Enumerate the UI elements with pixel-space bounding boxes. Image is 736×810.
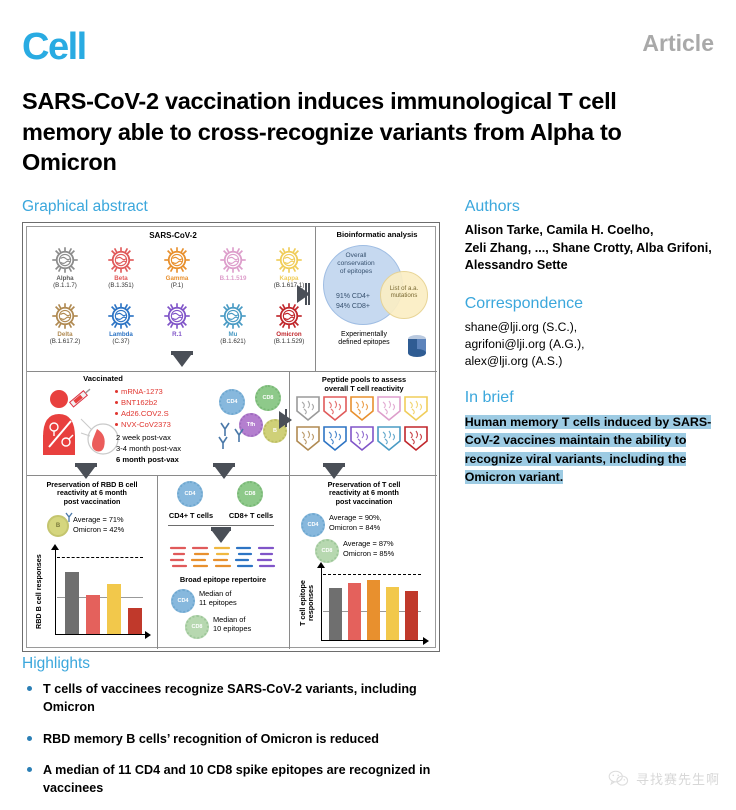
article-type-label: Article [642,30,714,57]
cd4-cell-icon: CD4 [177,481,203,507]
divider [315,227,316,371]
cd8-cell-icon: CD8 [237,481,263,507]
page-title: SARS-CoV-2 vaccination induces immunolog… [22,86,712,178]
variant-item: Omicron (B.1.1.529) [269,301,309,346]
timepoint-item: 6 month post-vax [116,455,226,464]
variant-lineage: (C.37) [101,339,141,346]
arrow-down-icon [215,467,233,479]
highlight-item: RBD memory B cells’ recognition of Omicr… [22,730,452,748]
in-brief-line: recognize viral variants, including the [465,452,687,466]
rbd-bar-chart [55,549,151,635]
virus-icon [218,301,248,331]
bullet [115,412,118,415]
divider [168,525,274,526]
bullet [115,423,118,426]
tcell-chart-ylabel: T cell epitope responses [299,563,315,643]
cd8-cell-icon: CD8 [255,385,281,411]
cd8-cell-icon: CD8 [315,539,339,563]
x-axis [321,640,425,641]
cd4-median: Median of11 epitopes [199,589,269,607]
variant-lineage: (P.1) [157,283,197,290]
in-brief-line: Human memory T cells induced by SARS- [465,415,712,429]
tcell-bar-chart [321,567,429,641]
cd4-omicron: Omicron = 84% [329,523,409,532]
highlight-item: T cells of vaccinees recognize SARS-CoV-… [22,680,452,717]
rbd-average: Average = 71% [73,515,151,524]
cd4-cell-icon: CD4 [301,513,325,537]
variant-name: R.1 [157,332,197,339]
divider [289,475,290,649]
x-axis [55,634,147,635]
virus-icon [162,301,192,331]
bar-delta [107,584,121,634]
arrow-down-icon [212,531,230,543]
spacer [465,275,714,295]
vaccinated-title: Vaccinated [53,375,153,384]
highlight-text: RBD memory B cells’ recognition of Omicr… [43,730,379,748]
tcell-panel-title: Preservation of T cellreactivity at 6 mo… [297,481,431,507]
arrow-down-icon [77,467,95,479]
wechat-watermark: 寻找赛先生啊 [608,769,720,788]
x-axis-arrow [423,637,429,645]
highlight-text: T cells of vaccinees recognize SARS-CoV-… [43,680,452,717]
bar-omicron [405,591,418,640]
virus-icon [106,245,136,275]
rbd-panel-title: Preservation of RBD B cellreactivity at … [31,481,153,507]
variant-item: Delta (B.1.617.2) [45,301,85,346]
spacer [465,369,714,389]
correspondence-email[interactable]: agrifoni@lji.org (A.G.), [465,336,714,353]
variant-item: Lambda (C.37) [101,301,141,346]
virus-icon [106,301,136,331]
variant-name: B.1.1.519 [213,276,253,283]
cd8-tcell-label: CD8+ T cells [221,511,281,520]
authors-heading: Authors [465,198,714,216]
authors-line: Alessandro Sette [465,257,714,275]
content-columns: Graphical abstract SARS-CoV-2 [22,198,714,652]
correspondence-email[interactable]: alex@lji.org (A.S.) [465,353,714,370]
in-brief-text: Human memory T cells induced by SARS- Co… [465,413,714,485]
article-page: Cell Article SARS-CoV-2 vaccination indu… [0,0,736,806]
bullet [115,390,118,393]
y-axis [55,549,56,635]
cd4-cell-icon: CD4 [219,389,245,415]
variant-item: Alpha (B.1.1.7) [45,245,85,290]
virus-icon [50,301,80,331]
variant-lineage: (B.1.621) [213,339,253,346]
antibody-icon [215,419,255,451]
x-axis-arrow [145,631,151,639]
variant-item: Beta (B.1.351) [101,245,141,290]
cd8-cell-icon: CD8 [185,615,209,639]
arrow-down-icon [325,467,343,479]
variant-item: Mu (B.1.621) [213,301,253,346]
variant-item: R.1 [157,301,197,339]
variant-lineage: (B.1.1.7) [45,283,85,290]
vaccine-item: BNT162b2 [121,398,211,407]
bar-gamma [367,580,380,640]
y-axis-arrow [317,562,325,568]
bullet-icon [27,736,32,741]
graphical-abstract-figure: SARS-CoV-2 [22,222,440,652]
rbd-chart-ylabel: RBD B cell responses [35,549,51,635]
variant-lineage: (B.1.351) [101,283,141,290]
bioinformatic-title: Bioinformatic analysis [319,231,435,240]
bullet-icon [27,767,32,772]
highlights-section: Highlights T cells of vaccinees recogniz… [22,655,452,810]
highlight-text: A median of 11 CD4 and 10 CD8 spike epit… [43,761,452,798]
in-brief-line: Omicron variant. [465,470,563,484]
cd8-median: Median of10 epitopes [213,615,283,633]
bar-beta [86,595,100,634]
cd4-cell-icon: CD4 [171,589,195,613]
variant-lineage: (B.1.617.2) [45,339,85,346]
virus-icon [274,301,304,331]
cd4-average: Average = 90%, [329,513,409,522]
variant-item: Gamma (P.1) [157,245,197,290]
graphical-abstract-heading: Graphical abstract [22,198,451,216]
venn-overlap-label: List of a.a.mutations [383,285,425,300]
peptide-pool-shields [295,395,433,457]
cd4-tcell-label: CD4+ T cells [161,511,221,520]
vaccine-item: Ad26.COV2.S [121,409,211,418]
bar-kappa [386,587,399,640]
wechat-icon [608,770,630,788]
left-column: Graphical abstract SARS-CoV-2 [22,198,451,652]
bar-ancestral [329,588,342,640]
cell-journal-logo: Cell [22,28,86,66]
cd8-omicron: Omicron = 85% [343,549,423,558]
watermark-text: 寻找赛先生啊 [636,769,720,788]
vaccine-item: mRNA-1273 [121,387,211,396]
bullet-icon [27,686,32,691]
repertoire-title: Broad epitope repertoire [163,575,283,584]
database-icon [405,333,429,359]
virus-icon [218,245,248,275]
bioinformatic-footer: Experimentallydefined epitopes [319,331,409,348]
variant-item: Kappa (B.1.617.1) [269,245,309,290]
highlight-item: A median of 11 CD4 and 10 CD8 spike epit… [22,761,452,798]
y-axis [321,567,322,641]
arrow-right-icon [297,285,310,303]
virus-panel-title: SARS-CoV-2 [83,231,263,240]
stat-cd8: 94% CD8+ [323,303,383,312]
reference-line-dashed [57,557,143,558]
correspondence-email[interactable]: shane@lji.org (S.C.), [465,319,714,336]
vaccine-item: NVX-CoV2373 [121,420,213,429]
divider [157,475,158,649]
arrow-down-icon [173,355,191,367]
cd8-average: Average = 87% [343,539,423,548]
page-header: Cell Article [22,18,714,74]
in-brief-heading: In brief [465,389,714,407]
rbd-omicron: Omicron = 42% [73,525,151,534]
peptide-pools-title: Peptide pools to assessoverall T cell re… [293,375,435,393]
epitope-repertoire-icon [169,545,277,571]
bar-ancestral [65,572,79,634]
bar-beta [348,583,361,640]
arrow-right-icon [279,411,292,429]
bar-omicron [128,608,142,634]
bullet [115,401,118,404]
variant-lineage: (B.1.1.529) [269,339,309,346]
correspondence-heading: Correspondence [465,295,714,313]
reference-line-dashed [323,574,421,575]
timepoint-item: 3-4 month post-vax [116,444,226,453]
authors-line: Zeli Zhang, ..., Shane Crotty, Alba Grif… [465,240,714,258]
divider [27,371,437,372]
highlights-heading: Highlights [22,655,452,673]
stat-cd4: 91% CD4+ [323,293,383,302]
in-brief-line: CoV-2 vaccines maintain the ability to [465,433,687,447]
virus-icon [50,245,80,275]
variant-item: B.1.1.519 [213,245,253,283]
venn-main-label: Overallconservationof epitopes [325,252,387,277]
right-column: Authors Alison Tarke, Camila H. Coelho, … [451,198,714,652]
y-axis-arrow [51,544,59,550]
virus-icon [162,245,192,275]
timepoint-item: 2 week post-vax [116,433,216,442]
virus-icon [274,245,304,275]
authors-line: Alison Tarke, Camila H. Coelho, [465,222,714,240]
